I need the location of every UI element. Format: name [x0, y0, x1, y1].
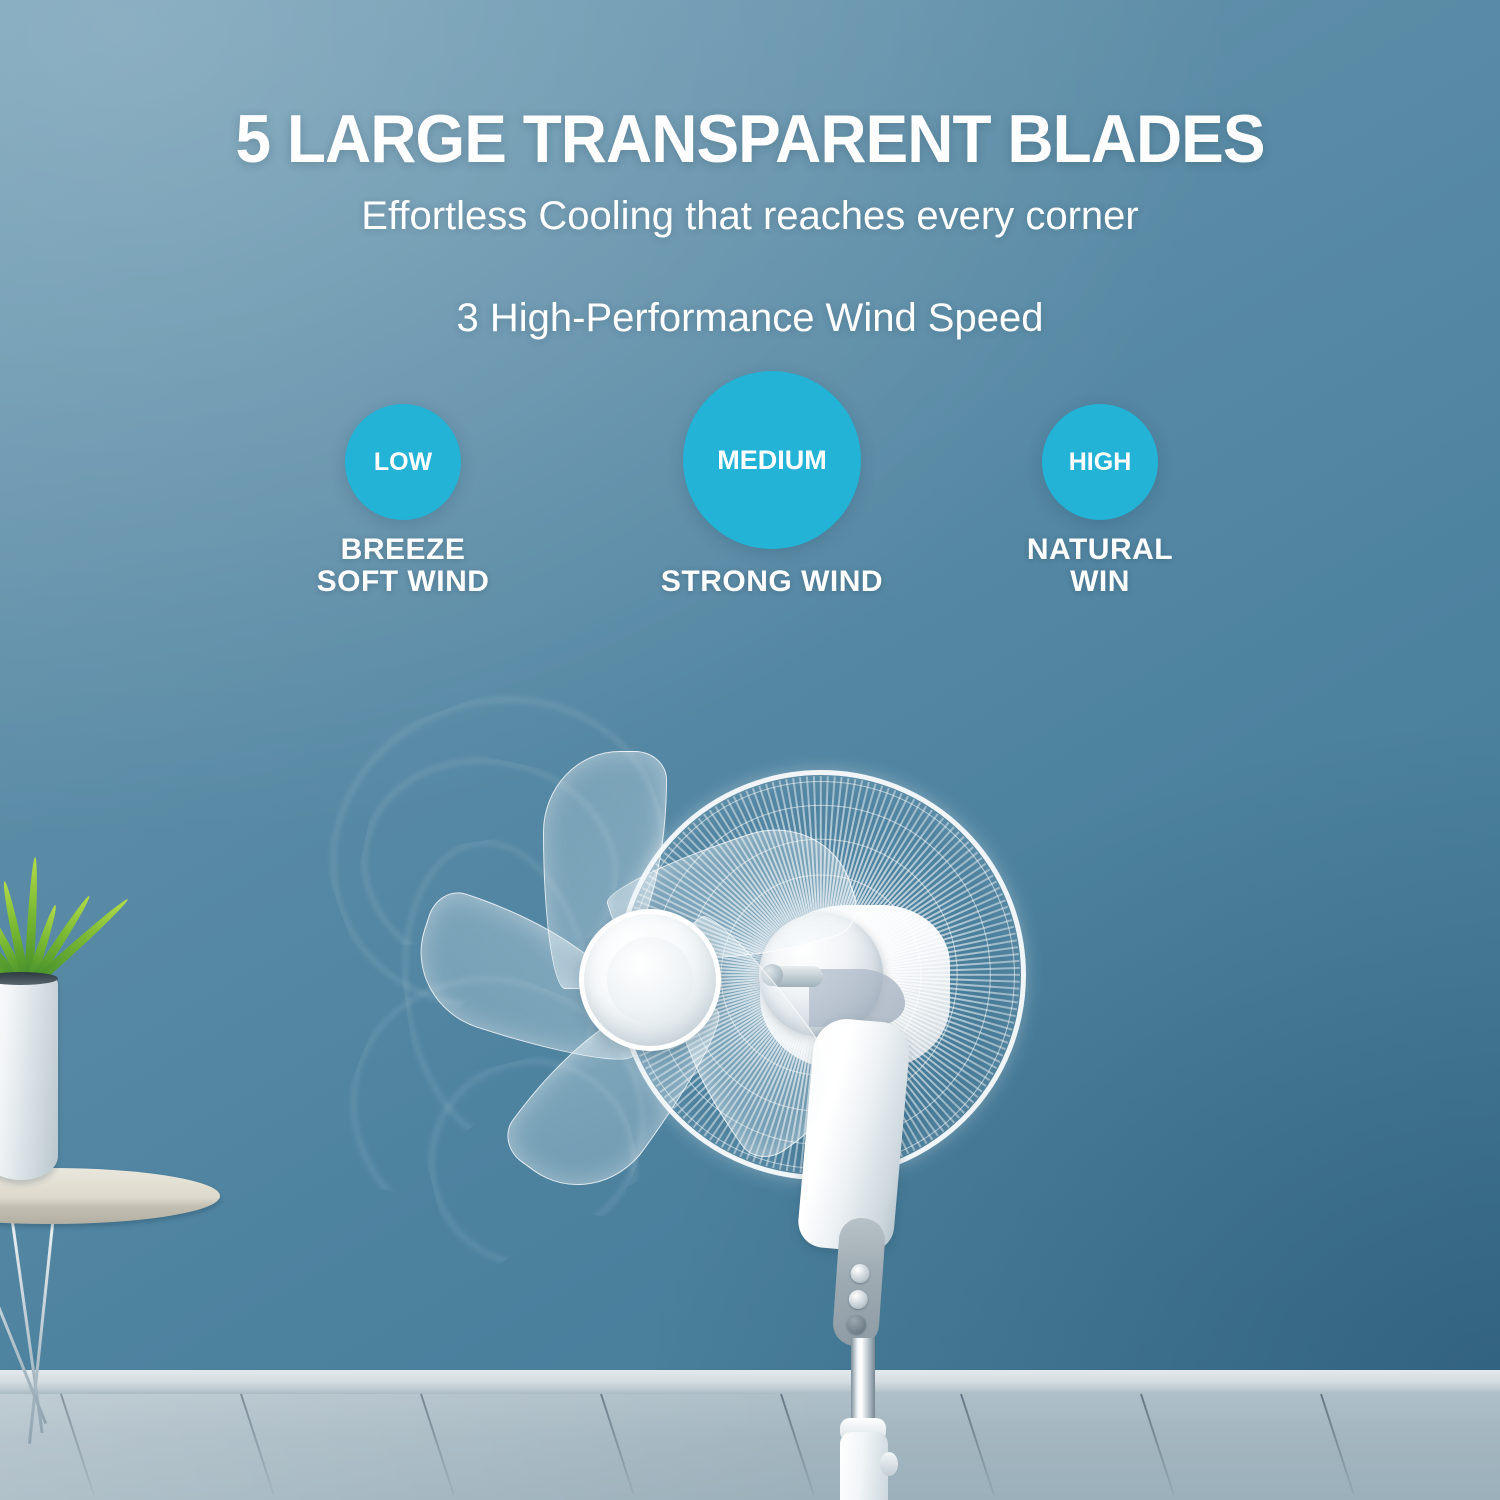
- height-adjust-knob[interactable]: [880, 1452, 898, 1476]
- wind-speed-options: LOWBREEZESOFT WINDMEDIUMSTRONG WINDHIGHN…: [0, 0, 1500, 640]
- speed-caption: STRONG WIND: [612, 566, 932, 598]
- speed-bubble-medium[interactable]: MEDIUM: [683, 371, 861, 549]
- chrome-pole: [851, 1338, 875, 1424]
- speed-bubble-low[interactable]: LOW: [345, 404, 461, 520]
- speed-button-2[interactable]: [848, 1289, 868, 1309]
- speed-caption-line2: WIN: [940, 566, 1260, 598]
- speed-caption-line2: SOFT WIND: [243, 566, 563, 598]
- speed-caption: NATURALWIN: [940, 534, 1260, 598]
- rotor-hub-inner: [607, 937, 693, 1023]
- hub-swoosh: [809, 969, 905, 1027]
- speed-caption: BREEZESOFT WIND: [243, 534, 563, 598]
- speed-caption-line1: NATURAL: [940, 534, 1260, 566]
- product-marketing-image: 5 LARGE TRANSPARENT BLADES Effortless Co…: [0, 0, 1500, 1500]
- rotor-hub: [579, 909, 721, 1051]
- speed-level-label: HIGH: [1069, 448, 1132, 477]
- speed-caption-line1: STRONG WIND: [612, 566, 932, 598]
- power-button[interactable]: [846, 1314, 866, 1334]
- speed-button-1[interactable]: [850, 1263, 870, 1283]
- speed-caption-line1: BREEZE: [243, 534, 563, 566]
- speed-level-label: MEDIUM: [717, 445, 827, 476]
- speed-bubble-high[interactable]: HIGH: [1042, 404, 1158, 520]
- control-panel[interactable]: [832, 1217, 887, 1348]
- speed-level-label: LOW: [374, 448, 432, 477]
